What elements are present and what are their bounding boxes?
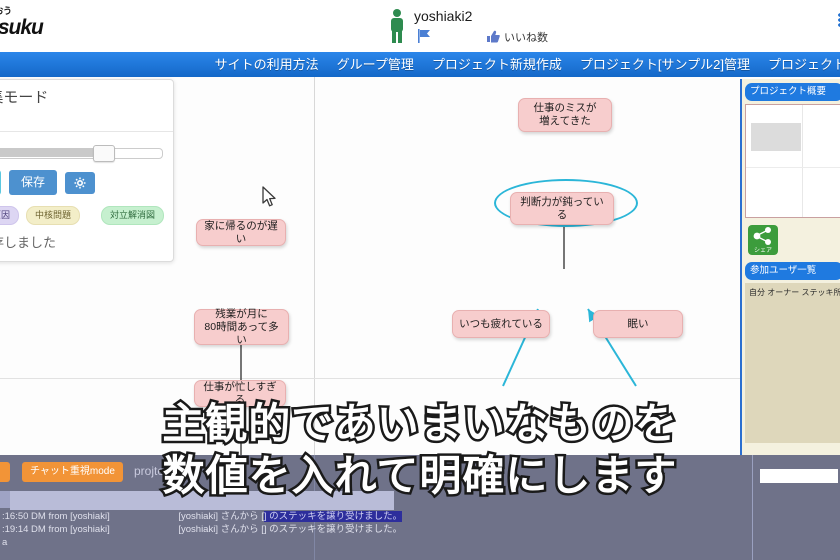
like-count-label: いいね数 [504,29,548,45]
chat-log[interactable]: :16:50 DM from [yoshiaki] [yoshiaki] さんか… [0,510,840,549]
panel-subtitle: shiaki2 [0,110,163,125]
user-list-item[interactable]: 自分 オーナー ステッキ所 [745,283,840,302]
select-button[interactable]: 択 [0,170,1,195]
diagram-node-sleepy[interactable]: 眠い [593,310,683,338]
project-overview-title: プロジェクト概要 [745,83,840,101]
chat-input[interactable] [10,491,394,510]
diagram-node-always-tired[interactable]: いつも疲れている [452,310,550,338]
chat-log-tail: ] のステッキを譲り受けました。 [264,524,402,535]
diagram-node-overtime[interactable]: 残業が月に 80時間あって多い [194,309,289,345]
tag-root-cause[interactable]: 根本原因 [0,206,19,225]
slider-fill [0,148,101,157]
chat-log-detail: [yoshiaki] さんから [ [178,524,264,535]
chat-bar: チャット重視mode projtest :16:50 DM from [yosh… [0,455,840,560]
mouse-pointer [262,186,278,208]
diagram-node-home-late[interactable]: 家に帰るのが遅い [196,219,286,246]
overview-thumbnail [751,123,801,151]
edit-mode-panel: / 編集モード shiaki2 択 保存 [0,79,174,262]
thumbs-up-icon [486,30,500,43]
project-overview-box[interactable] [745,104,840,218]
tag-conflict-resolution[interactable]: 対立解消図 [101,206,164,225]
user-name[interactable]: yoshiaki2 [414,8,472,24]
settings-button[interactable] [65,172,95,194]
nav-item-new-project[interactable]: プロジェクト新規作成 [432,52,562,77]
chat-mode-tab[interactable] [0,462,10,482]
main-nav: サイトの利用方法 グループ管理 プロジェクト新規作成 プロジェクト[サンプル2]… [0,52,840,77]
chat-log-tail: ] のステッキを譲り受けました。 [264,511,402,522]
save-status-message: と保存しました [0,234,163,251]
nav-item-project-sample2[interactable]: プロジェクト[サンプル2]管理 [580,52,750,77]
user-list-title: 参加ユーザ一覧 [745,262,840,280]
chat-log-time: :19:14 DM from [yoshiaki] [2,524,110,535]
chat-log-row: :16:50 DM from [yoshiaki] [yoshiaki] さんか… [0,510,840,523]
canvas-divider-vertical [314,77,315,455]
overview-row-divider [746,167,840,168]
app-header: なおう nsuku yoshiaki2 いいね数 P [0,0,840,52]
chat-mode-button[interactable]: チャット重視mode [22,462,123,482]
category-tag-row: 根本原因 中核問題 対立解消図 [0,206,163,225]
chat-log-detail: [yoshiaki] さんから [ [178,511,264,522]
site-logo[interactable]: なおう nsuku [0,6,90,46]
zoom-slider[interactable] [0,145,163,158]
coin-point-icon[interactable]: P [836,8,840,38]
panel-title: / 編集モード [0,88,163,107]
chat-log-time: :16:50 DM from [yoshiaki] [2,511,110,522]
chat-project-name: projtest [134,464,173,478]
chat-log-time: a [2,537,7,548]
nav-item-group-mgmt[interactable]: グループ管理 [337,52,414,77]
share-button[interactable]: シェア [748,225,778,255]
canvas-divider-horizontal [0,378,840,379]
logo-wordmark: nsuku [0,17,90,39]
person-icon [386,8,408,44]
diagram-node-dull-judgement[interactable]: 判断力が鈍っている [510,192,614,225]
diagram-node-more-mistakes[interactable]: 仕事のミスが 増えてきた [518,98,612,132]
right-sidebar: プロジェクト概要 シェア 参加ユーザ一覧 自分 オーナー ステッキ所 [740,79,840,455]
user-list[interactable]: 自分 オーナー ステッキ所 [745,283,840,443]
share-label: シェア [748,245,778,254]
gear-icon [74,177,86,189]
chat-input-tab [0,491,10,508]
share-icon [748,225,778,247]
chat-log-row: :19:14 DM from [yoshiaki] [yoshiaki] さんか… [0,523,840,536]
overview-column-divider [802,105,803,217]
tag-core-problem[interactable]: 中核問題 [26,206,80,225]
nav-item-site-usage[interactable]: サイトの利用方法 [215,52,319,77]
nav-item-project[interactable]: プロジェクト [768,52,840,77]
diagram-node-too-busy[interactable]: 仕事が忙しすぎる [194,380,286,407]
chat-side-field[interactable] [760,469,838,483]
save-button[interactable]: 保存 [9,170,57,195]
flag-icon[interactable] [416,28,432,44]
panel-header: / 編集モード shiaki2 [0,80,173,132]
slider-thumb[interactable] [93,145,115,162]
chat-log-row: a [0,536,840,549]
